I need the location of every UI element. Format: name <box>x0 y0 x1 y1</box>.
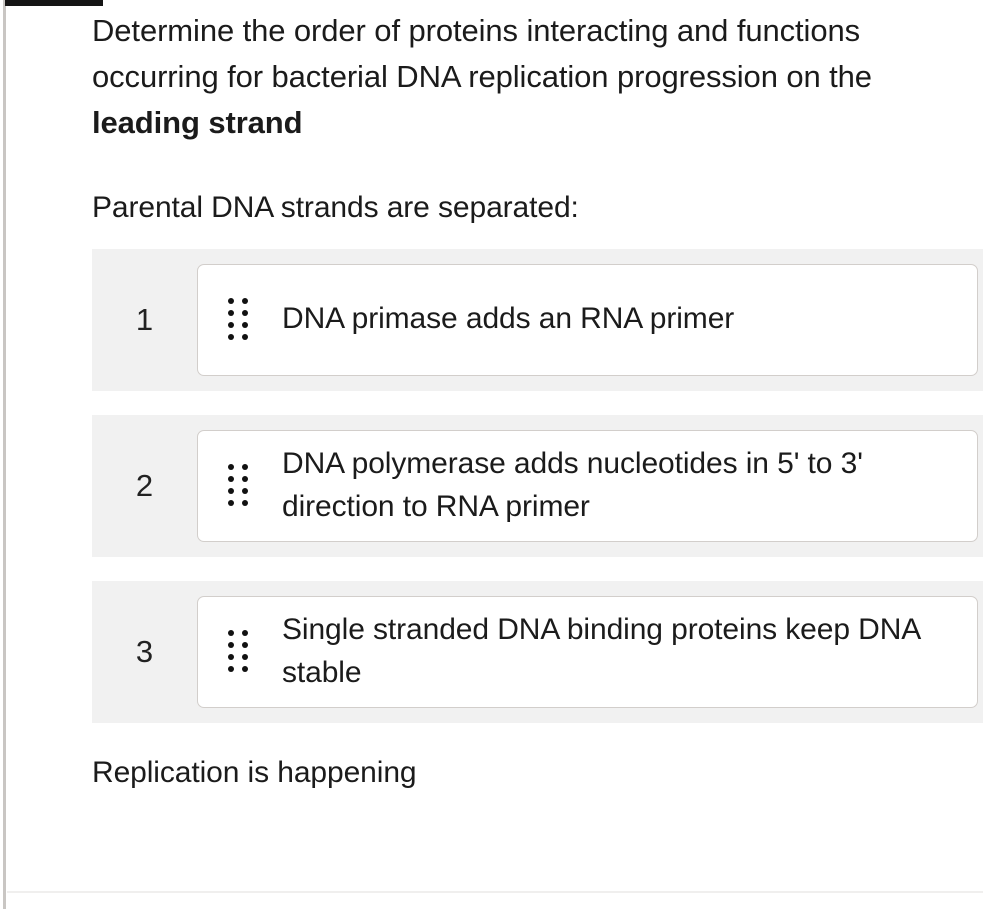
list-item[interactable]: 2 DNA polymerase adds nucleotides in 5' … <box>92 415 983 557</box>
question-page: Determine the order of proteins interact… <box>0 0 983 909</box>
answer-card-text: Single stranded DNA binding proteins kee… <box>282 609 922 694</box>
draggable-answer-card[interactable]: DNA polymerase adds nucleotides in 5' to… <box>197 430 978 542</box>
drag-handle-icon[interactable] <box>226 463 252 509</box>
top-left-black-bar <box>5 0 103 6</box>
question-content: Determine the order of proteins interact… <box>92 0 983 792</box>
item-position-number: 2 <box>92 430 197 542</box>
drag-handle-icon[interactable] <box>226 629 252 675</box>
ordering-list: 1 DNA primase adds an RNA primer 2 DNA p… <box>92 249 983 723</box>
page-title: Determine the order of proteins interact… <box>92 8 952 146</box>
start-state-label: Parental DNA strands are separated: <box>92 188 983 227</box>
answer-card-text: DNA primase adds an RNA primer <box>282 298 734 341</box>
end-state-label: Replication is happening <box>92 753 983 792</box>
item-position-number: 1 <box>92 264 197 376</box>
draggable-answer-card[interactable]: Single stranded DNA binding proteins kee… <box>197 596 978 708</box>
bottom-divider-rule <box>7 891 983 893</box>
prompt-lead-text: Determine the order of proteins interact… <box>92 13 872 94</box>
drag-handle-icon[interactable] <box>226 297 252 343</box>
answer-card-text: DNA polymerase adds nucleotides in 5' to… <box>282 443 922 528</box>
left-edge-rule <box>3 0 6 909</box>
item-position-number: 3 <box>92 596 197 708</box>
list-item[interactable]: 1 DNA primase adds an RNA primer <box>92 249 983 391</box>
draggable-answer-card[interactable]: DNA primase adds an RNA primer <box>197 264 978 376</box>
prompt-emphasis-text: leading strand <box>92 105 302 140</box>
list-item[interactable]: 3 Single stranded DNA binding proteins k… <box>92 581 983 723</box>
